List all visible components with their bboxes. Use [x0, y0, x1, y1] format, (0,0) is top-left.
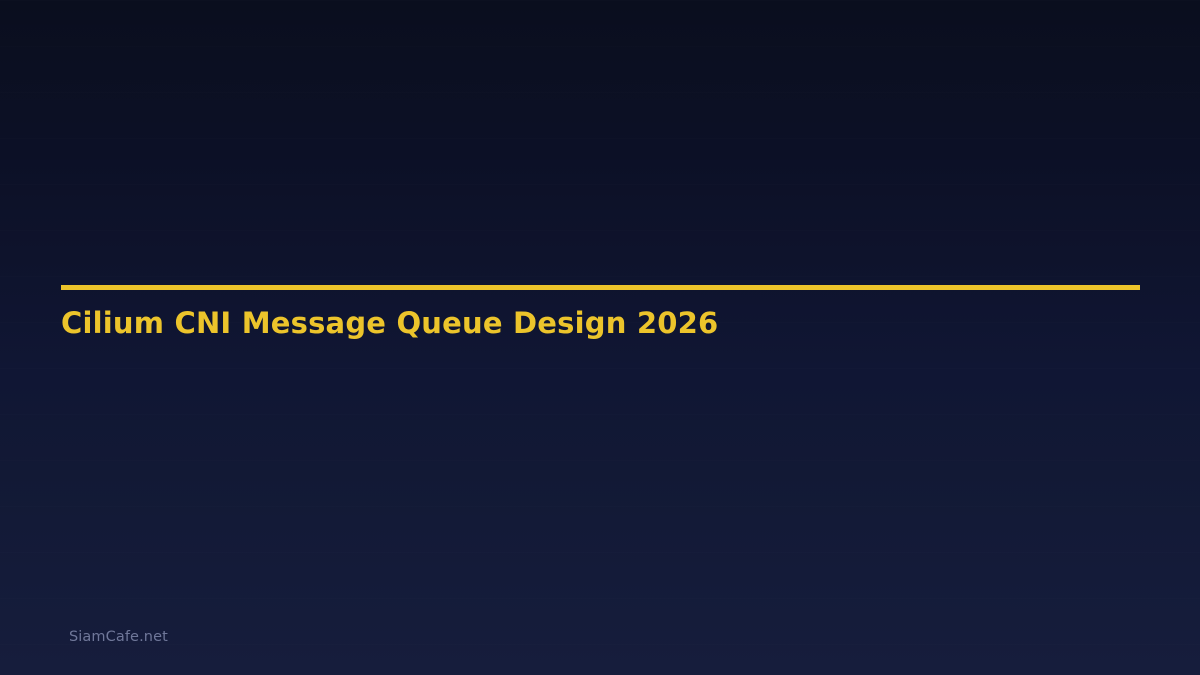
title-slide: Cilium CNI Message Queue Design 2026 Sia… — [0, 0, 1200, 675]
footer-watermark: SiamCafe.net — [69, 629, 168, 645]
title-block: Cilium CNI Message Queue Design 2026 — [61, 285, 1140, 340]
page-title: Cilium CNI Message Queue Design 2026 — [61, 290, 1140, 340]
